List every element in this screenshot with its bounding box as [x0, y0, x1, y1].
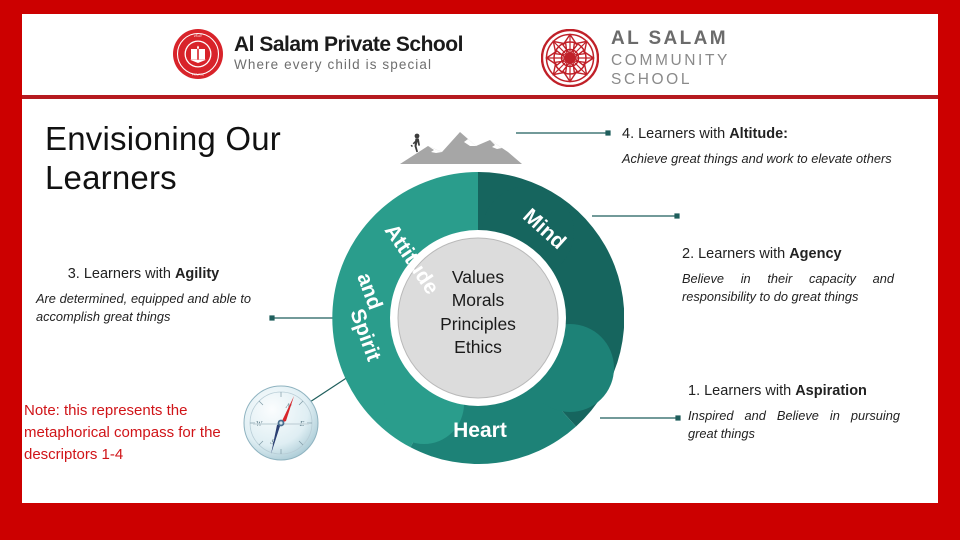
center-line-3: Principles	[414, 313, 542, 336]
page-title: Envisioning Our Learners	[45, 120, 375, 197]
descriptor-agency: 2. Learners with Agency Believe in their…	[682, 245, 894, 306]
descriptor-aspiration: 1. Learners with Aspiration Inspired and…	[688, 382, 900, 443]
slide-canvas: السلام PRIVATE Al Salam Private School W…	[0, 0, 960, 540]
logo-community-line3: SCHOOL	[611, 70, 730, 89]
logo-private-name: Al Salam Private School	[234, 34, 463, 56]
svg-text:PRIVATE: PRIVATE	[192, 73, 204, 77]
logo-community-line1: AL SALAM	[611, 27, 730, 51]
descriptor-altitude-title: 4. Learners with Altitude:	[622, 125, 922, 144]
descriptor-agility: 3. Learners with Agility Are determined,…	[36, 265, 251, 326]
center-line-1: Values	[414, 266, 542, 289]
descriptor-agency-keyword: Agency	[789, 246, 841, 262]
descriptor-agency-title: 2. Learners with Agency	[682, 245, 894, 264]
descriptor-agency-prefix: 2. Learners with	[682, 246, 789, 262]
wheel-label-heart: Heart	[453, 419, 507, 442]
descriptor-altitude: 4. Learners with Altitude: Achieve great…	[622, 125, 922, 168]
svg-text:Heart: Heart	[453, 419, 507, 442]
hiker-figure-icon	[411, 134, 420, 153]
descriptor-agility-subtitle: Are determined, equipped and able to acc…	[36, 290, 251, 326]
descriptor-aspiration-subtitle: Inspired and Believe in pursuing great t…	[688, 407, 900, 443]
compass-note: Note: this represents the metaphorical c…	[24, 400, 224, 465]
geometric-rosette-icon	[541, 29, 599, 87]
descriptor-aspiration-prefix: 1. Learners with	[688, 383, 795, 399]
wheel-center-values: Values Morals Principles Ethics	[414, 266, 542, 359]
descriptor-agility-prefix: 3. Learners with	[68, 266, 175, 282]
descriptor-agency-subtitle: Believe in their capacity and responsibi…	[682, 270, 894, 306]
center-line-4: Ethics	[414, 336, 542, 359]
descriptor-altitude-prefix: 4. Learners with	[622, 126, 729, 142]
descriptor-aspiration-keyword: Aspiration	[795, 383, 867, 399]
logo-private-tagline: Where every child is special	[234, 56, 463, 74]
center-line-2: Morals	[414, 289, 542, 312]
logo-al-salam-private-school: السلام PRIVATE Al Salam Private School W…	[172, 28, 463, 80]
logo-community-line2: COMMUNITY	[611, 51, 730, 70]
logo-al-salam-community-school: AL SALAM COMMUNITY SCHOOL	[541, 27, 730, 90]
descriptor-altitude-keyword: Altitude:	[729, 126, 788, 142]
header-panel: السلام PRIVATE Al Salam Private School W…	[22, 14, 938, 98]
descriptor-aspiration-title: 1. Learners with Aspiration	[688, 382, 900, 401]
compass-icon: N E S W	[242, 384, 320, 462]
descriptor-agility-title: 3. Learners with Agility	[36, 265, 251, 284]
descriptor-agility-keyword: Agility	[175, 266, 219, 282]
school-crest-icon: السلام PRIVATE	[172, 28, 224, 80]
mountain-range-with-hiker-icon	[398, 122, 524, 166]
descriptor-altitude-subtitle: Achieve great things and work to elevate…	[622, 150, 922, 168]
